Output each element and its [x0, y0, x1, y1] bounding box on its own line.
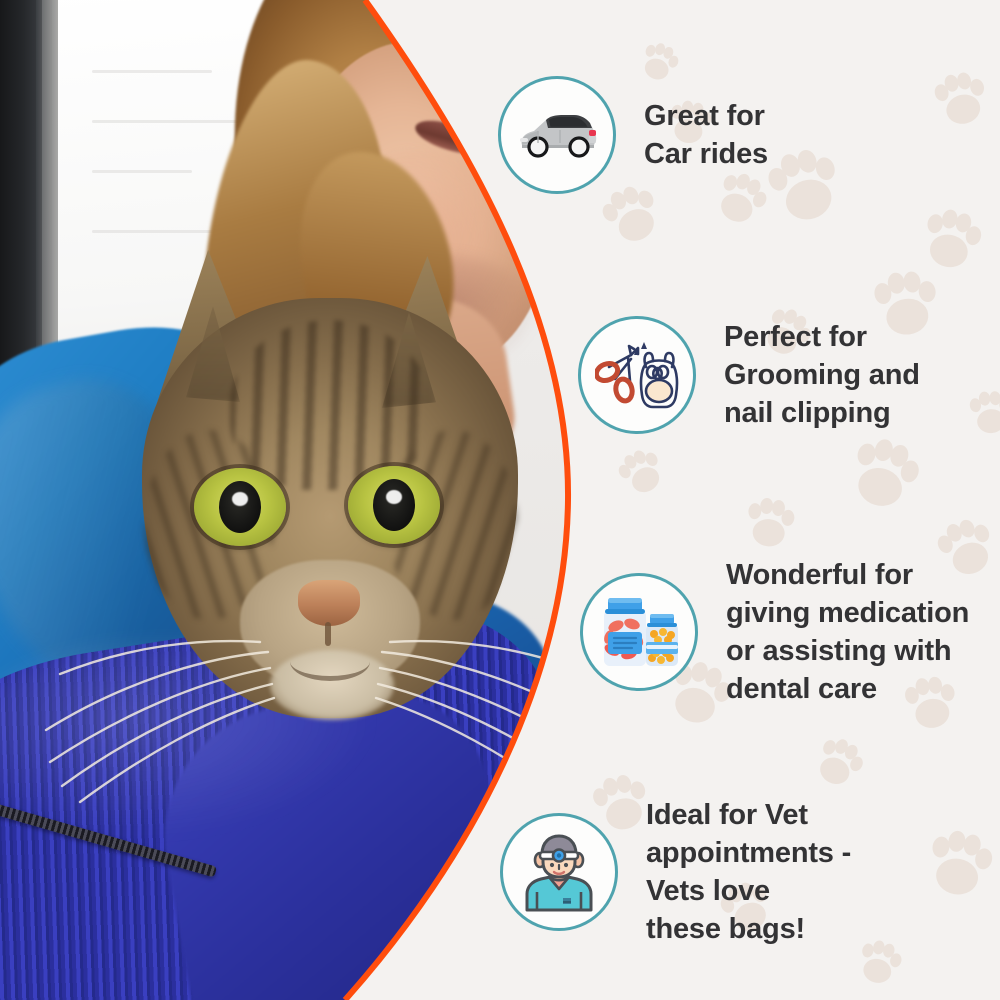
- feature-label-vet: Ideal for Vet appointments - Vets love t…: [646, 796, 851, 948]
- feature-item-car-rides[interactable]: Great for Car rides: [498, 76, 768, 194]
- car-icon: [498, 76, 616, 194]
- feature-item-medication[interactable]: Wonderful for giving medication or assis…: [580, 556, 969, 708]
- feature-label-medication: Wonderful for giving medication or assis…: [726, 556, 969, 708]
- nail-clippers-paw-icon: [578, 316, 696, 434]
- pill-bottles-icon: [580, 573, 698, 691]
- feature-list: Great for Car rides: [0, 0, 1000, 1000]
- infographic-canvas: Great for Car rides: [0, 0, 1000, 1000]
- feature-item-vet[interactable]: Ideal for Vet appointments - Vets love t…: [500, 796, 851, 948]
- feature-label-car-rides: Great for Car rides: [644, 97, 768, 173]
- feature-label-grooming: Perfect for Grooming and nail clipping: [724, 318, 920, 432]
- veterinarian-icon: [500, 813, 618, 931]
- feature-item-grooming[interactable]: Perfect for Grooming and nail clipping: [578, 316, 920, 434]
